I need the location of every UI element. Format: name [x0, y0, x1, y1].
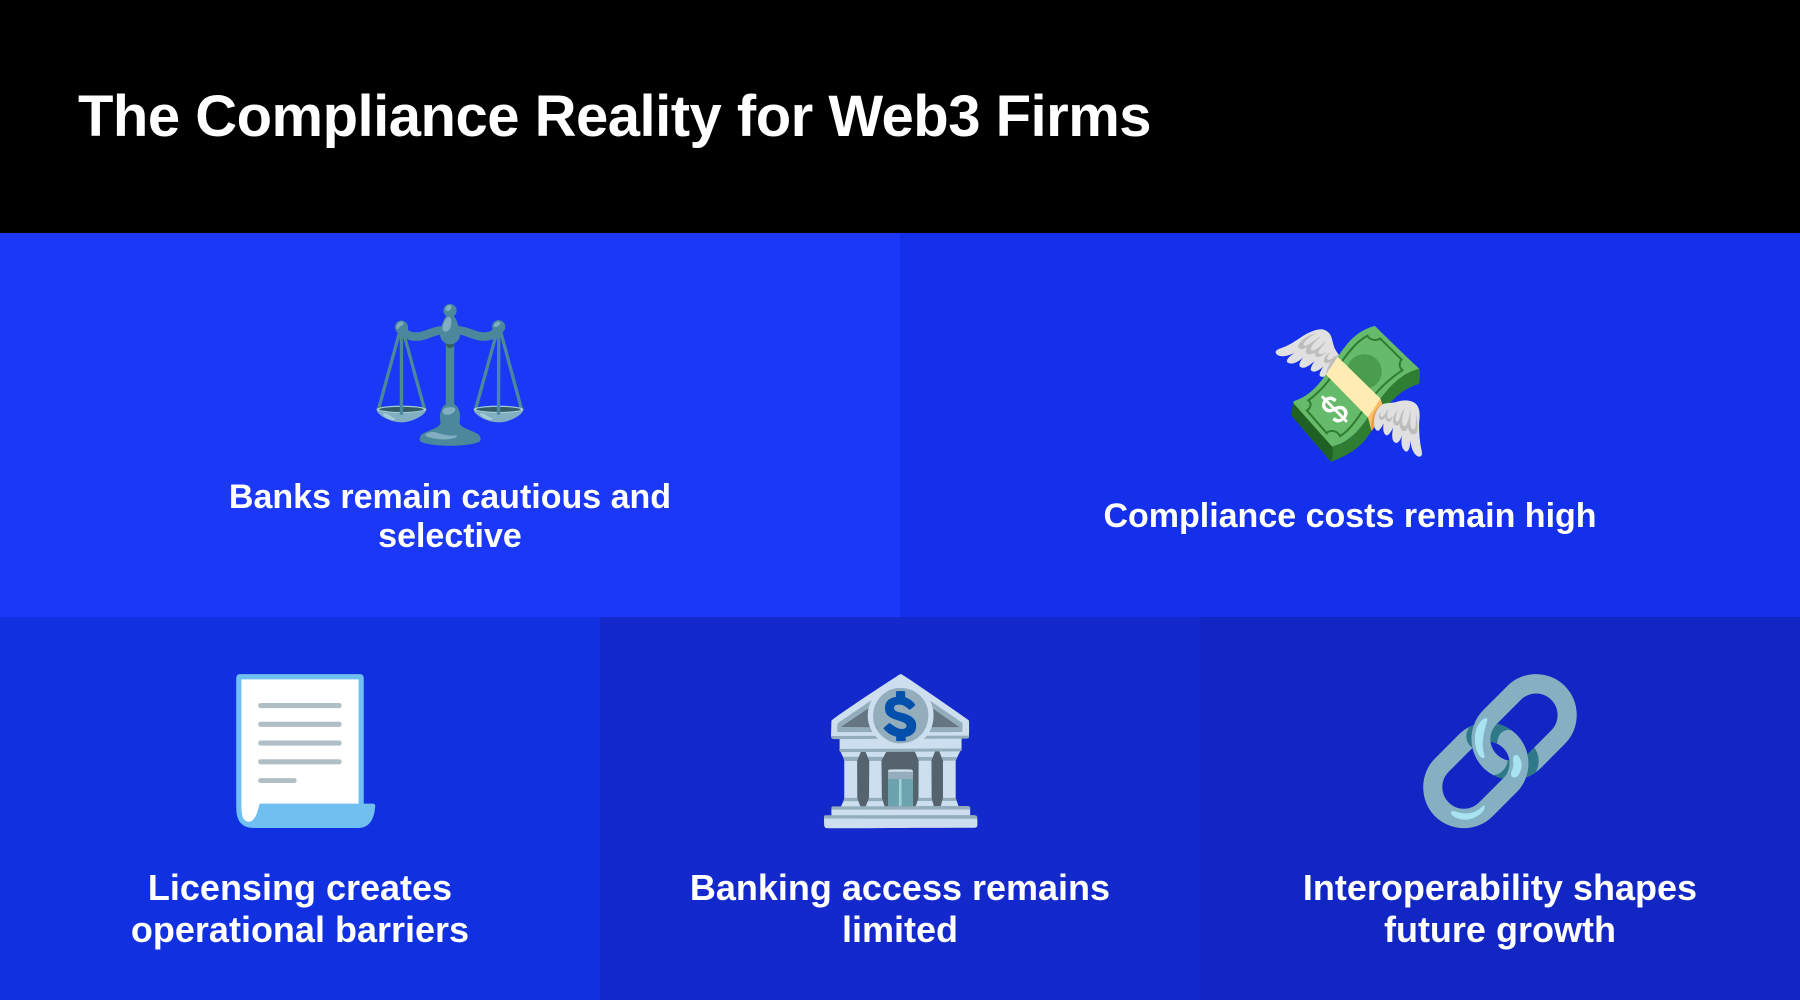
card-label: Banks remain cautious and selective	[190, 478, 710, 557]
card-label: Banking access remains limited	[670, 867, 1130, 949]
chain-link-icon: 🔗	[1413, 667, 1587, 835]
card-grid: ⚖️ Banks remain cautious and selective 💸…	[0, 233, 1800, 1000]
card-label: Compliance costs remain high	[1103, 497, 1596, 536]
slide-canvas: The Compliance Reality for Web3 Firms ⚖️…	[0, 0, 1800, 1000]
page-title: The Compliance Reality for Web3 Firms	[0, 85, 1151, 149]
bank-icon: 🏦	[813, 667, 987, 835]
money-with-wings-icon: 💸	[1268, 319, 1432, 469]
card-label: Interoperability shapes future growth	[1270, 867, 1730, 949]
card-compliance-costs[interactable]: 💸 Compliance costs remain high	[900, 233, 1800, 617]
page-with-curl-icon: 📃	[213, 667, 387, 835]
slide-header: The Compliance Reality for Web3 Firms	[0, 0, 1800, 233]
card-label: Licensing creates operational barriers	[70, 867, 530, 949]
balance-scale-icon: ⚖️	[368, 300, 532, 450]
card-banks-remain-cautious[interactable]: ⚖️ Banks remain cautious and selective	[0, 233, 900, 617]
card-row-bottom: 📃 Licensing creates operational barriers…	[0, 617, 1800, 1000]
card-row-top: ⚖️ Banks remain cautious and selective 💸…	[0, 233, 1800, 617]
card-interoperability[interactable]: 🔗 Interoperability shapes future growth	[1200, 617, 1800, 1000]
card-licensing-barriers[interactable]: 📃 Licensing creates operational barriers	[0, 617, 600, 1000]
card-banking-access[interactable]: 🏦 Banking access remains limited	[600, 617, 1200, 1000]
